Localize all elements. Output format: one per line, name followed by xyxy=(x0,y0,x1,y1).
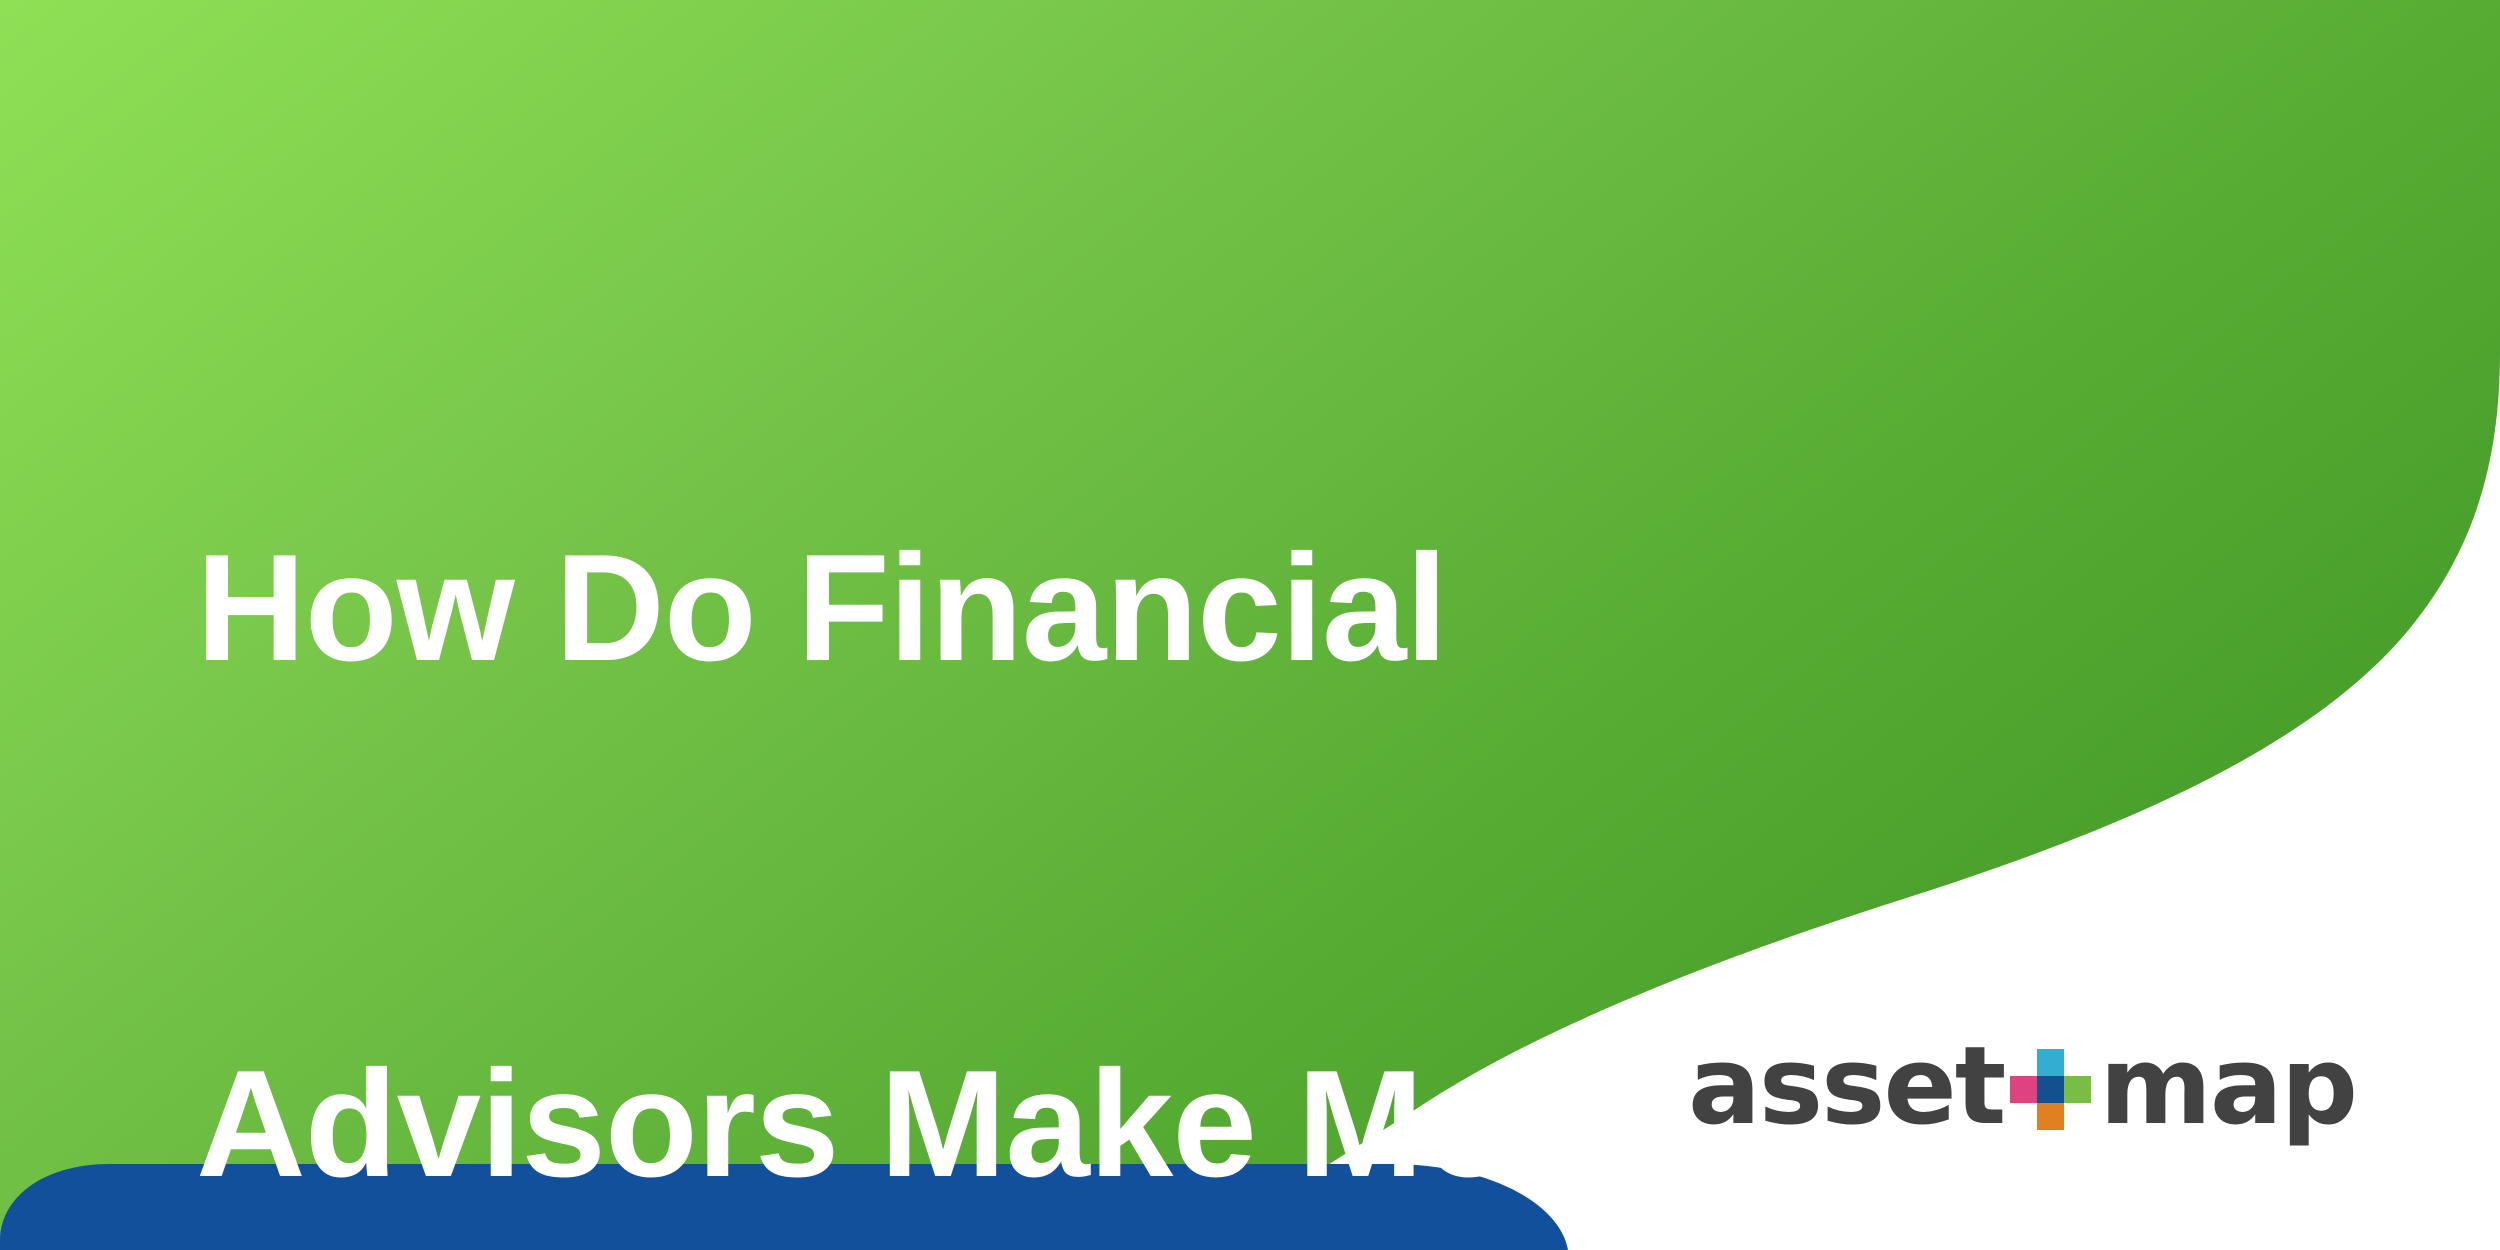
asset-map-logo[interactable]: asset map xyxy=(1688,1022,2356,1152)
logo-wordmark-asset: asset xyxy=(1688,1033,2004,1141)
plus-segment-center xyxy=(2037,1076,2064,1103)
plus-segment-top xyxy=(2037,1049,2064,1076)
logo-wordmark-map: map xyxy=(2099,1033,2356,1141)
plus-segment-left xyxy=(2010,1076,2037,1103)
banner: How Do Financial Advisors Make Money? as… xyxy=(0,0,2500,1250)
plus-segment-bottom xyxy=(2037,1103,2064,1130)
plus-segment-right xyxy=(2064,1076,2091,1103)
headline-line-1: How Do Financial xyxy=(196,522,2196,694)
plus-mark-icon xyxy=(2010,1049,2091,1130)
